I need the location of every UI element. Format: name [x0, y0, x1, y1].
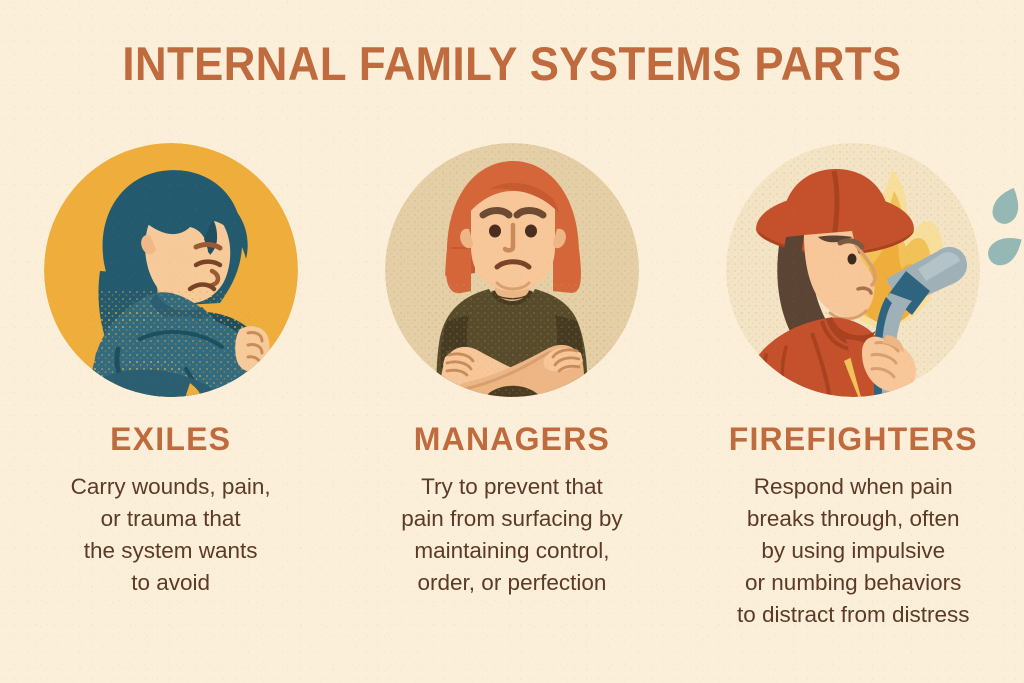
exiles-illustration-wrap — [44, 143, 298, 397]
firefighters-circle — [726, 143, 980, 397]
card-heading-firefighters: FIREFIGHTERS — [729, 421, 978, 458]
cards-row: EXILES Carry wounds, pain, or trauma tha… — [0, 143, 1024, 631]
water-droplets-icon — [974, 183, 1024, 273]
card-body-firefighters: Respond when pain breaks through, often … — [737, 471, 970, 631]
card-body-managers: Try to prevent that pain from surfacing … — [401, 471, 622, 599]
page-title: INTERNAL FAMILY SYSTEMS PARTS — [36, 36, 988, 91]
card-heading-exiles: EXILES — [110, 421, 231, 458]
sad-person-hugging-knees-icon — [44, 143, 298, 397]
managers-illustration-wrap — [385, 143, 639, 397]
firefighter-with-hose-and-flames-icon — [726, 143, 980, 397]
firefighters-illustration-wrap — [726, 143, 980, 397]
exiles-circle — [44, 143, 298, 397]
card-firefighters: FIREFIGHTERS Respond when pain breaks th… — [683, 143, 1024, 631]
card-body-exiles: Carry wounds, pain, or trauma that the s… — [71, 471, 271, 599]
stern-person-arms-crossed-icon — [385, 143, 639, 397]
card-exiles: EXILES Carry wounds, pain, or trauma tha… — [0, 143, 341, 631]
managers-circle — [385, 143, 639, 397]
card-heading-managers: MANAGERS — [414, 421, 610, 458]
infographic-canvas: INTERNAL FAMILY SYSTEMS PARTS — [0, 0, 1024, 683]
card-managers: MANAGERS Try to prevent that pain from s… — [341, 143, 682, 631]
